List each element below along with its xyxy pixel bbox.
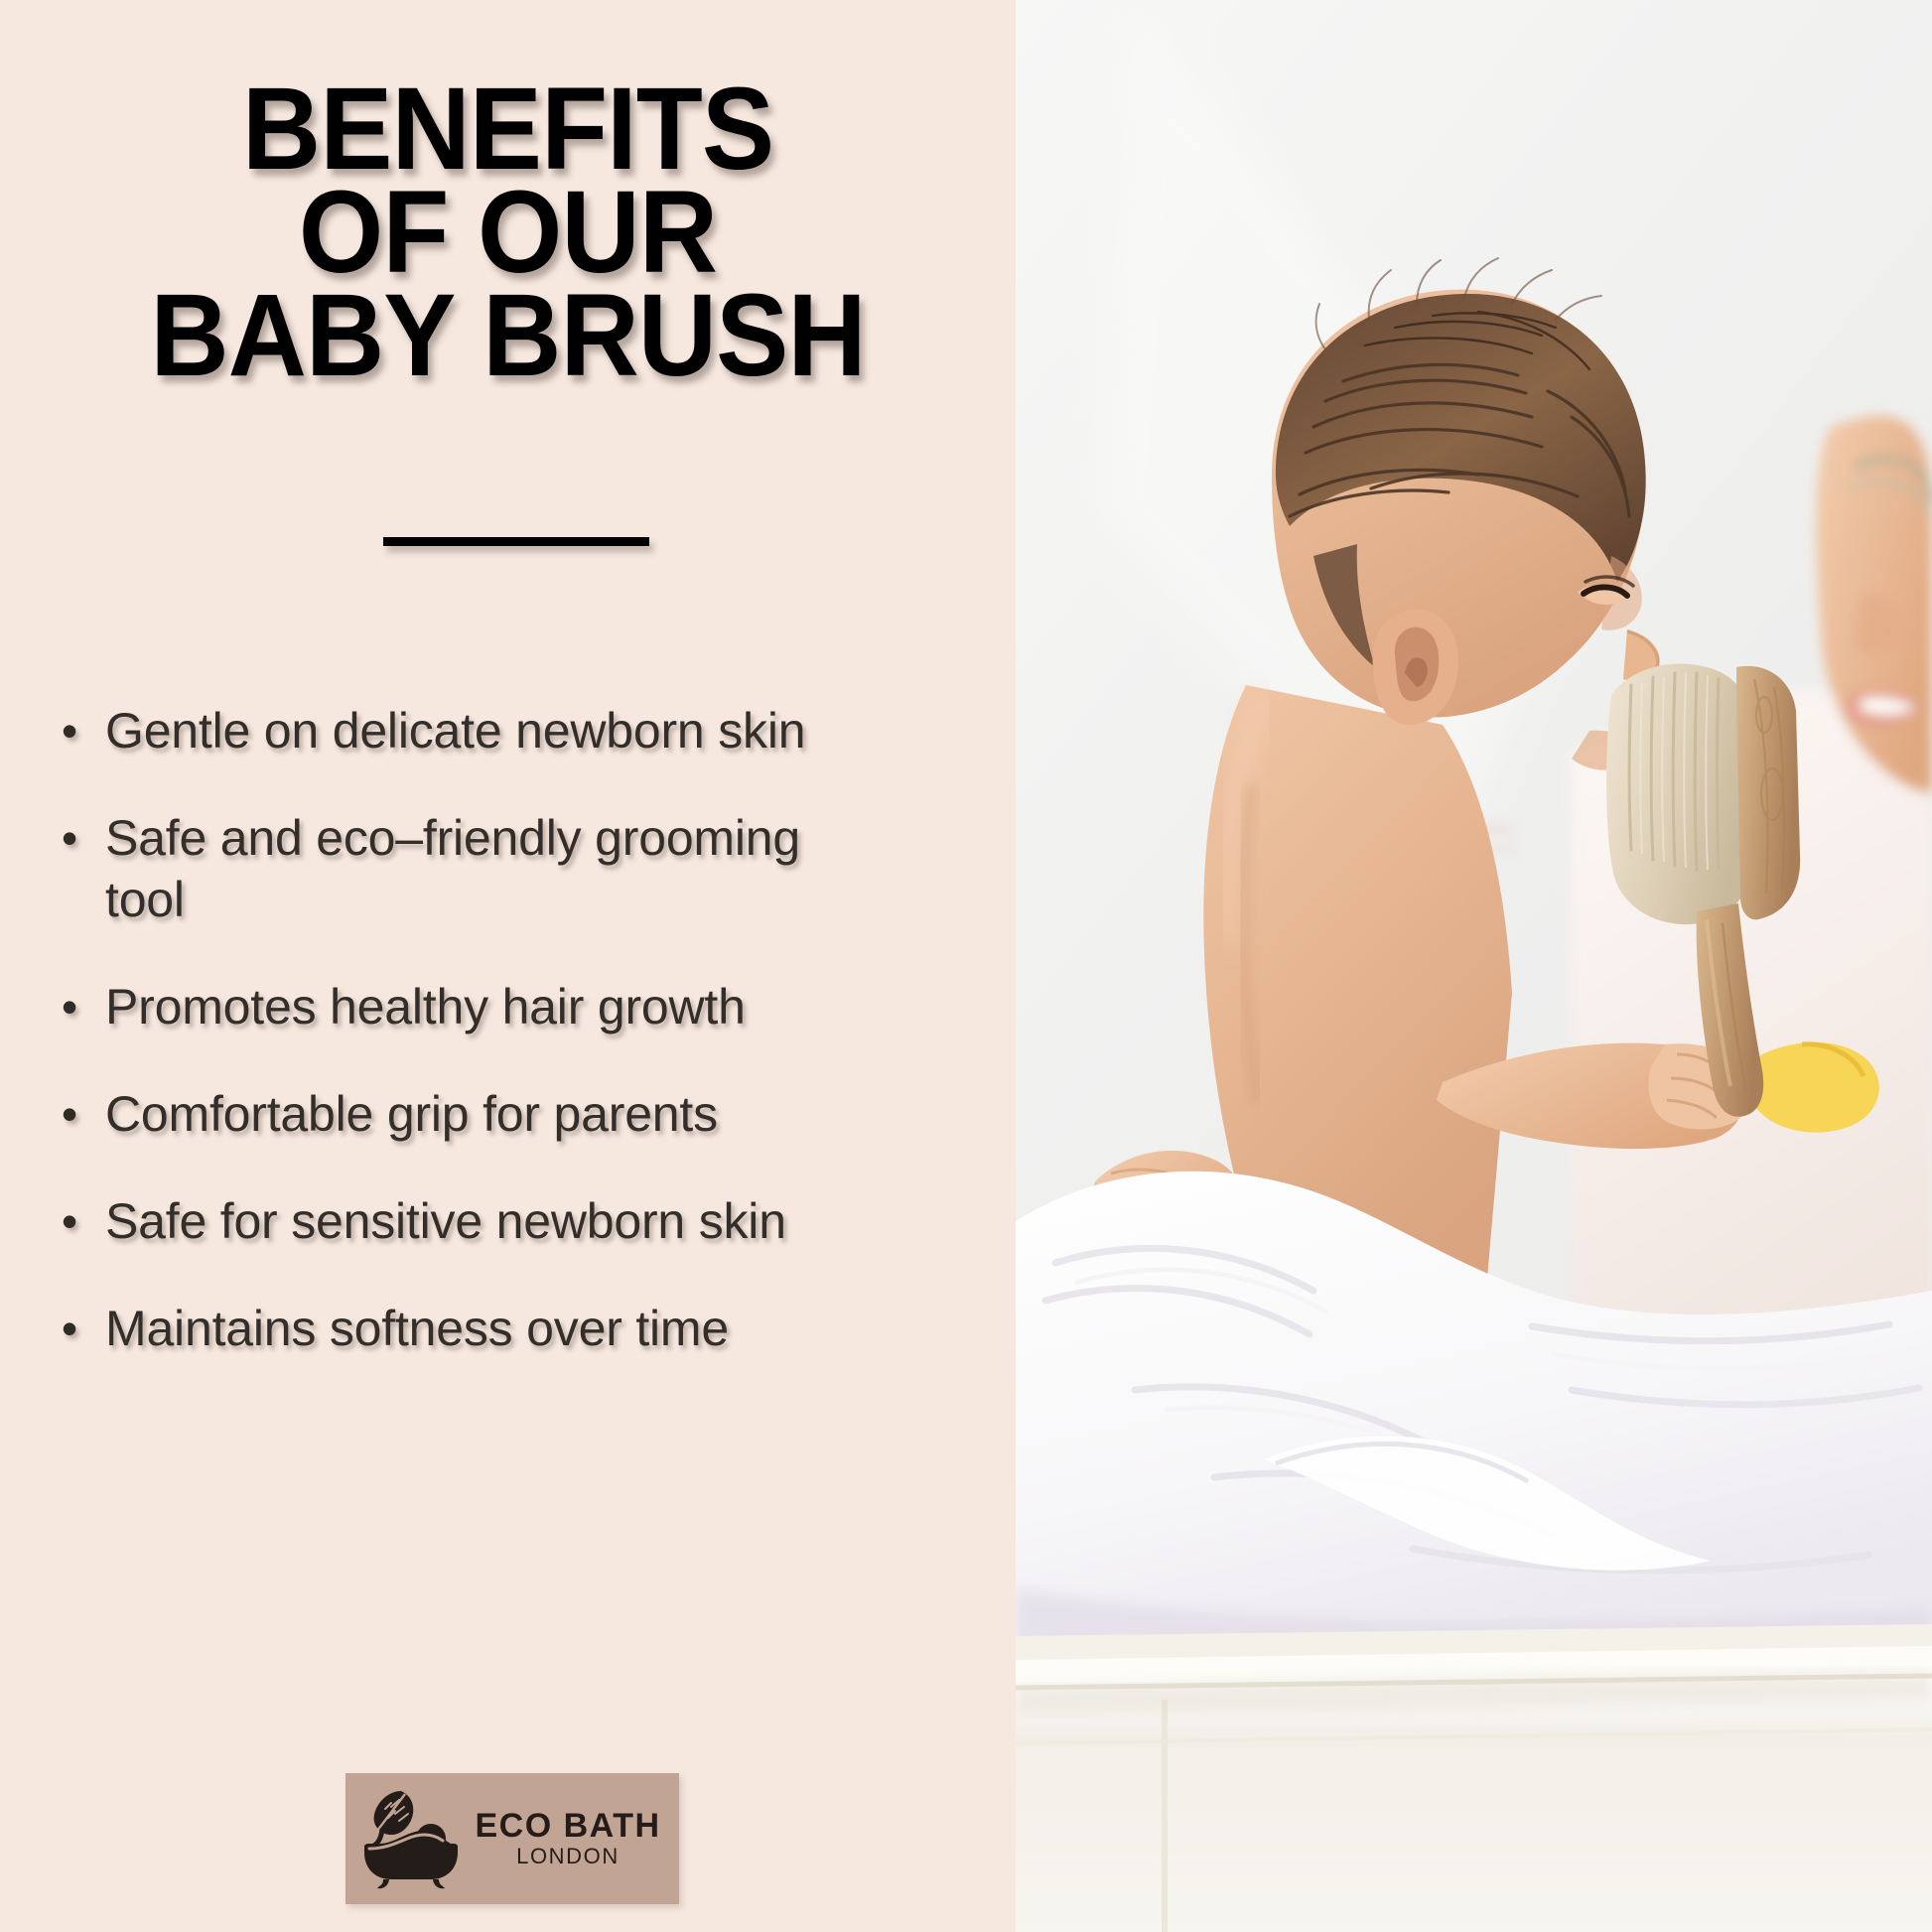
bullet-marker-icon: • [62,700,105,761]
benefit-text: Maintains softness over time [105,1298,860,1359]
promo-graphic: BENEFITS OF OUR BABY BRUSH • Gentle on d… [0,0,1932,1932]
list-item: • Maintains softness over time [62,1298,955,1359]
brand-logo: ECO BATH LONDON [345,1773,679,1904]
list-item: • Promotes healthy hair growth [62,976,955,1037]
bullet-marker-icon: • [62,1190,105,1252]
logo-title: ECO BATH [471,1808,665,1844]
list-item: • Safe and eco–friendly grooming tool [62,807,955,930]
logo-subtitle: LONDON [471,1844,665,1869]
product-photo [1016,0,1932,1932]
logo-wordmark: ECO BATH LONDON [467,1808,665,1869]
headline-line-1: BENEFITS [72,77,943,181]
benefit-text: Safe and eco–friendly grooming tool [105,807,860,930]
headline-line-3: BABY BRUSH [72,284,943,387]
benefit-text: Promotes healthy hair growth [105,976,860,1037]
benefits-list: • Gentle on delicate newborn skin • Safe… [62,700,955,1405]
benefit-text: Comfortable grip for parents [105,1083,860,1145]
bathtub-leaf-icon [355,1787,467,1890]
page-title: BENEFITS OF OUR BABY BRUSH [0,77,1016,387]
bullet-marker-icon: • [62,1298,105,1359]
benefit-text: Gentle on delicate newborn skin [105,700,860,761]
bullet-marker-icon: • [62,1083,105,1145]
title-divider [383,537,649,546]
left-content-panel: BENEFITS OF OUR BABY BRUSH • Gentle on d… [0,0,1016,1932]
benefit-text: Safe for sensitive newborn skin [105,1190,860,1252]
list-item: • Gentle on delicate newborn skin [62,700,955,761]
list-item: • Safe for sensitive newborn skin [62,1190,955,1252]
bullet-marker-icon: • [62,976,105,1037]
headline-line-2: OF OUR [72,181,943,284]
list-item: • Comfortable grip for parents [62,1083,955,1145]
bullet-marker-icon: • [62,807,105,869]
